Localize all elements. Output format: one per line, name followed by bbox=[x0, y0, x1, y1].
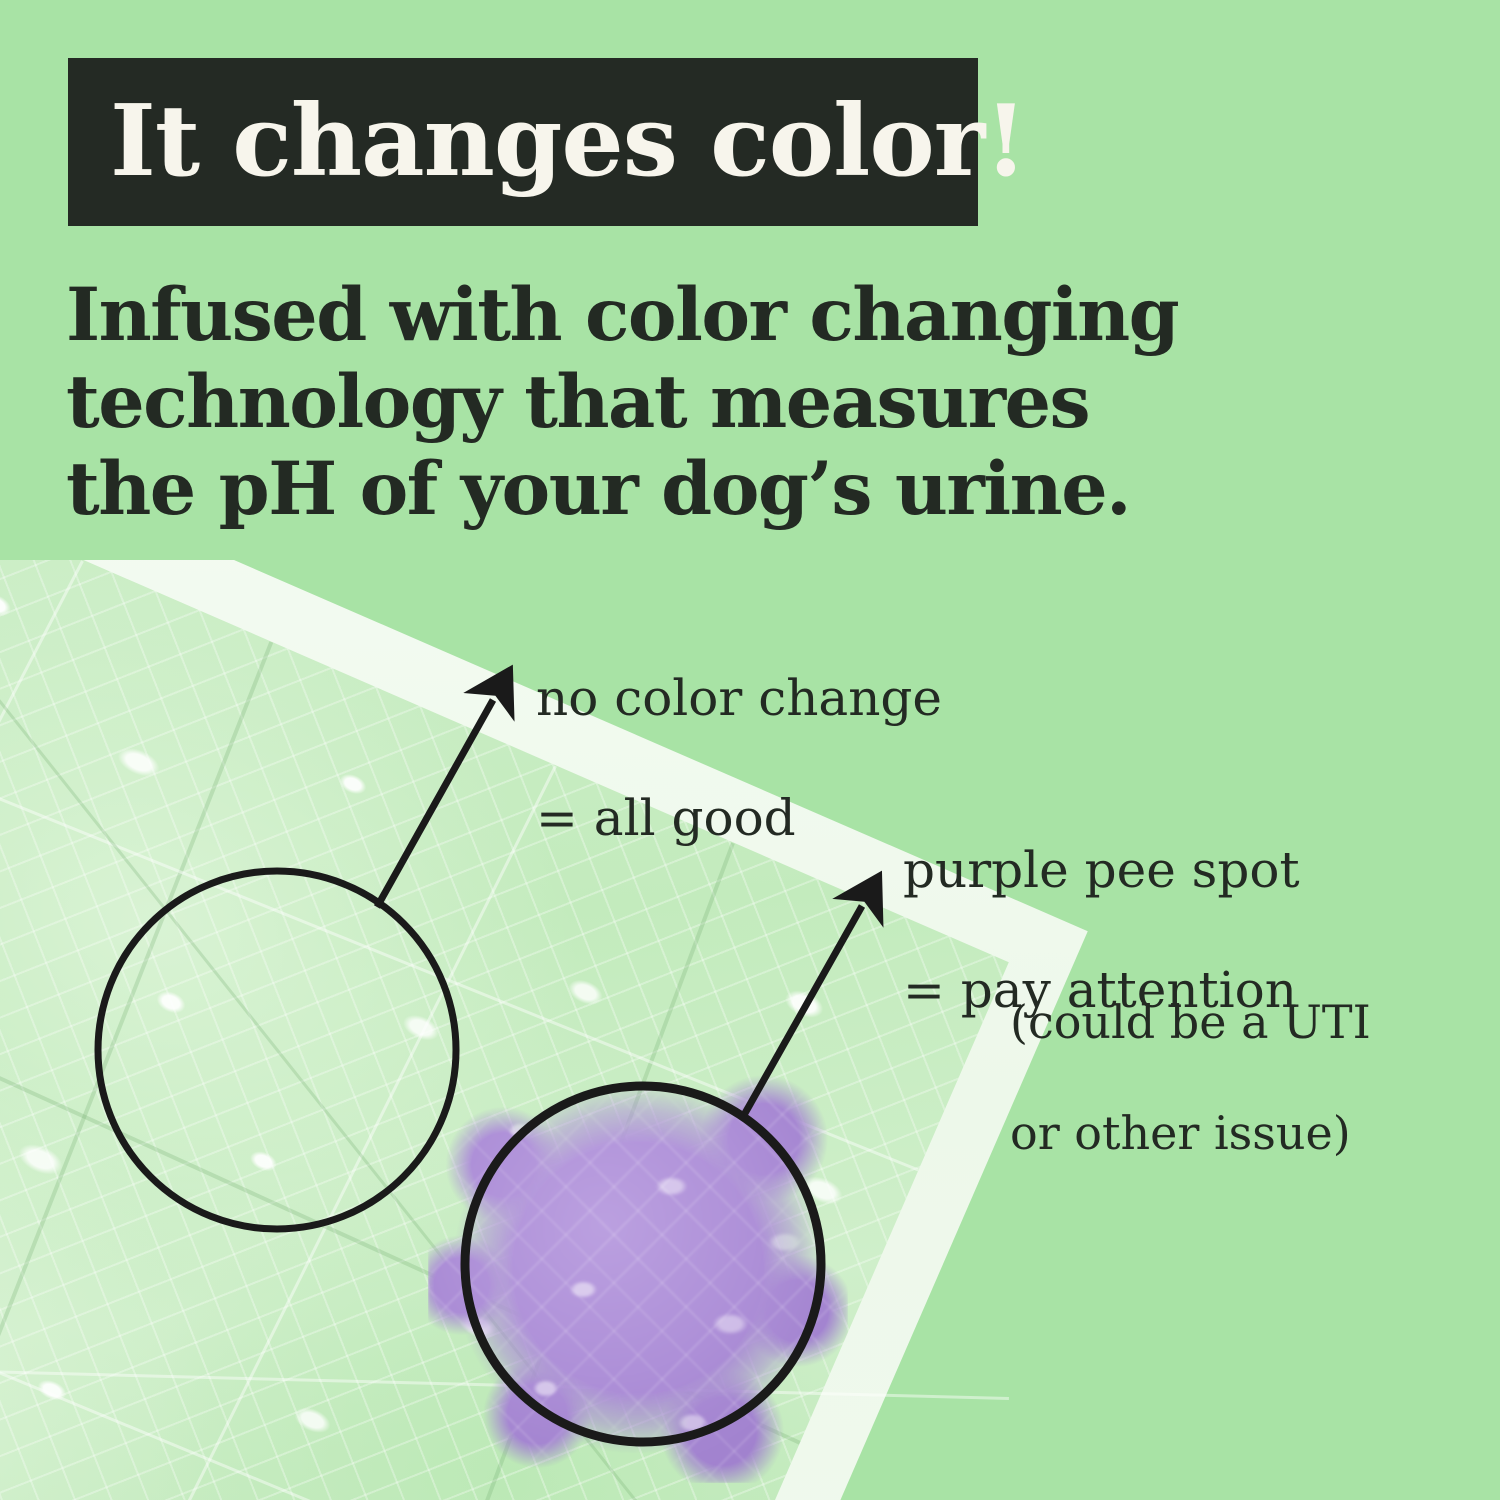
callout-uti-note-line-1: (could be a UTI bbox=[1010, 995, 1371, 1050]
callout-no-color-change: no color change = all good bbox=[536, 608, 942, 908]
pad-crease bbox=[0, 1227, 704, 1500]
pad-crease bbox=[350, 843, 735, 1500]
subheading-line-1: Infused with color changing bbox=[66, 272, 1246, 359]
subheading-line-2: technology that measures bbox=[66, 359, 1246, 446]
page-title: It changes color! bbox=[68, 93, 1026, 191]
callout-no-color-change-line-2: = all good bbox=[536, 788, 942, 848]
callout-purple-pee-spot-line-1: purple pee spot bbox=[903, 840, 1300, 900]
infographic-canvas: It changes color! Infused with color cha… bbox=[0, 0, 1500, 1500]
callout-uti-note: (could be a UTI or other issue) bbox=[1010, 940, 1371, 1216]
pad-crease bbox=[0, 560, 84, 1500]
pad-crease-diagonal bbox=[0, 1358, 1009, 1400]
callout-uti-note-line-2: or other issue) bbox=[1010, 1106, 1371, 1161]
callout-no-color-change-line-1: no color change bbox=[536, 668, 942, 728]
subheading: Infused with color changing technology t… bbox=[66, 272, 1246, 533]
headline-banner: It changes color! bbox=[68, 58, 978, 226]
pad-crease bbox=[67, 765, 556, 1500]
pad-crease bbox=[0, 641, 274, 1500]
subheading-line-3: the pH of your dog’s urine. bbox=[66, 446, 1246, 533]
pad-crease bbox=[0, 968, 801, 1444]
